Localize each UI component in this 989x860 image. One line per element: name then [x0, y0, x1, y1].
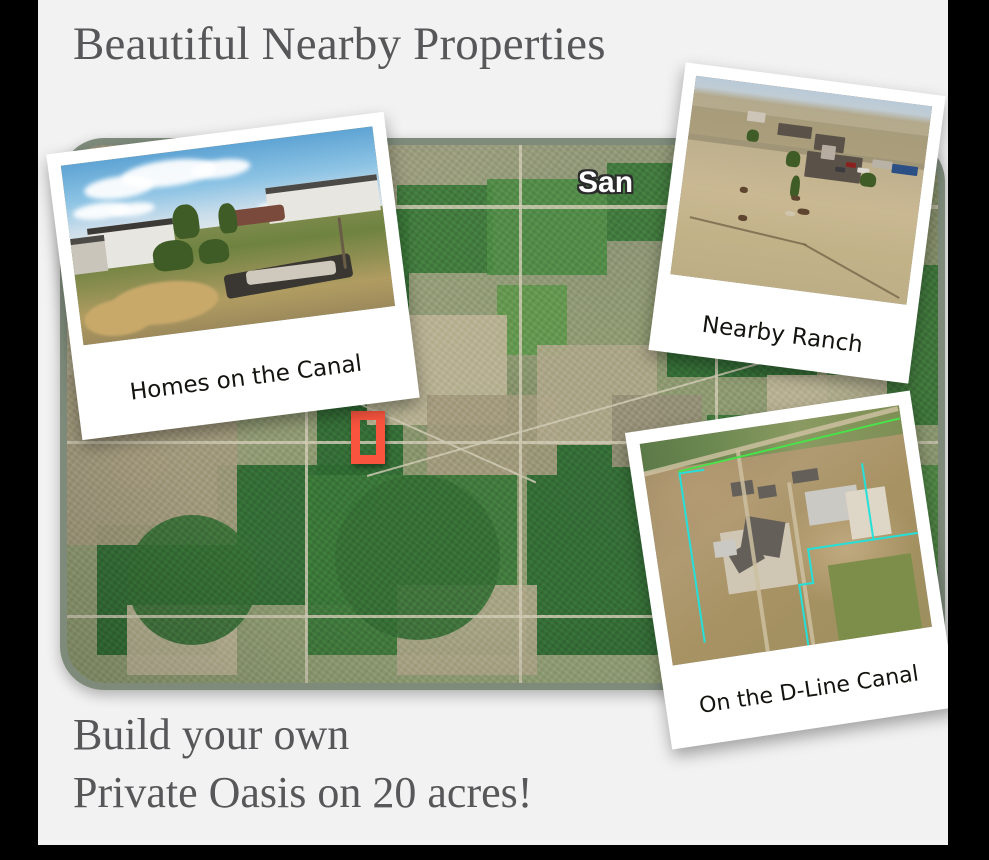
map-road [519, 145, 522, 683]
property-parcel-outline[interactable] [351, 411, 385, 464]
photo-image-on-the-d-line-canal [640, 405, 932, 665]
photo-card-nearby-ranch[interactable]: Nearby Ranch [648, 62, 945, 383]
photo-image-homes-on-the-canal [61, 126, 395, 345]
photo-caption: Nearby Ranch [663, 307, 902, 363]
tagline: Build your own Private Oasis on 20 acres… [73, 706, 532, 822]
outbuilding-roof [713, 539, 737, 558]
tagline-line-1: Build your own [73, 706, 532, 764]
photo-caption: Homes on the Canal [89, 346, 404, 411]
map-place-label: San [578, 166, 633, 200]
photo-card-homes-on-the-canal[interactable]: Homes on the Canal [46, 112, 419, 440]
green-field [828, 553, 922, 641]
tree-shape [785, 150, 801, 168]
tree-shape [746, 129, 759, 142]
photo-card-on-the-d-line-canal[interactable]: On the D-Line Canal [625, 390, 948, 749]
tree-shape [197, 237, 230, 265]
photo-caption: On the D-Line Canal [678, 658, 941, 721]
house-building [70, 235, 108, 275]
ranch-animal [738, 214, 748, 221]
photo-image-nearby-ranch [670, 76, 932, 305]
ranch-building [821, 145, 837, 161]
page-frame: Beautiful Nearby Properties [38, 0, 948, 845]
ranch-building [747, 111, 766, 123]
map-field [397, 185, 493, 273]
ranch-animal [791, 195, 801, 201]
tree-shape [859, 172, 877, 188]
map-pivot-field [127, 515, 257, 645]
page-title: Beautiful Nearby Properties [73, 17, 606, 71]
ranch-animal [739, 186, 748, 193]
tagline-line-2: Private Oasis on 20 acres! [73, 764, 532, 822]
